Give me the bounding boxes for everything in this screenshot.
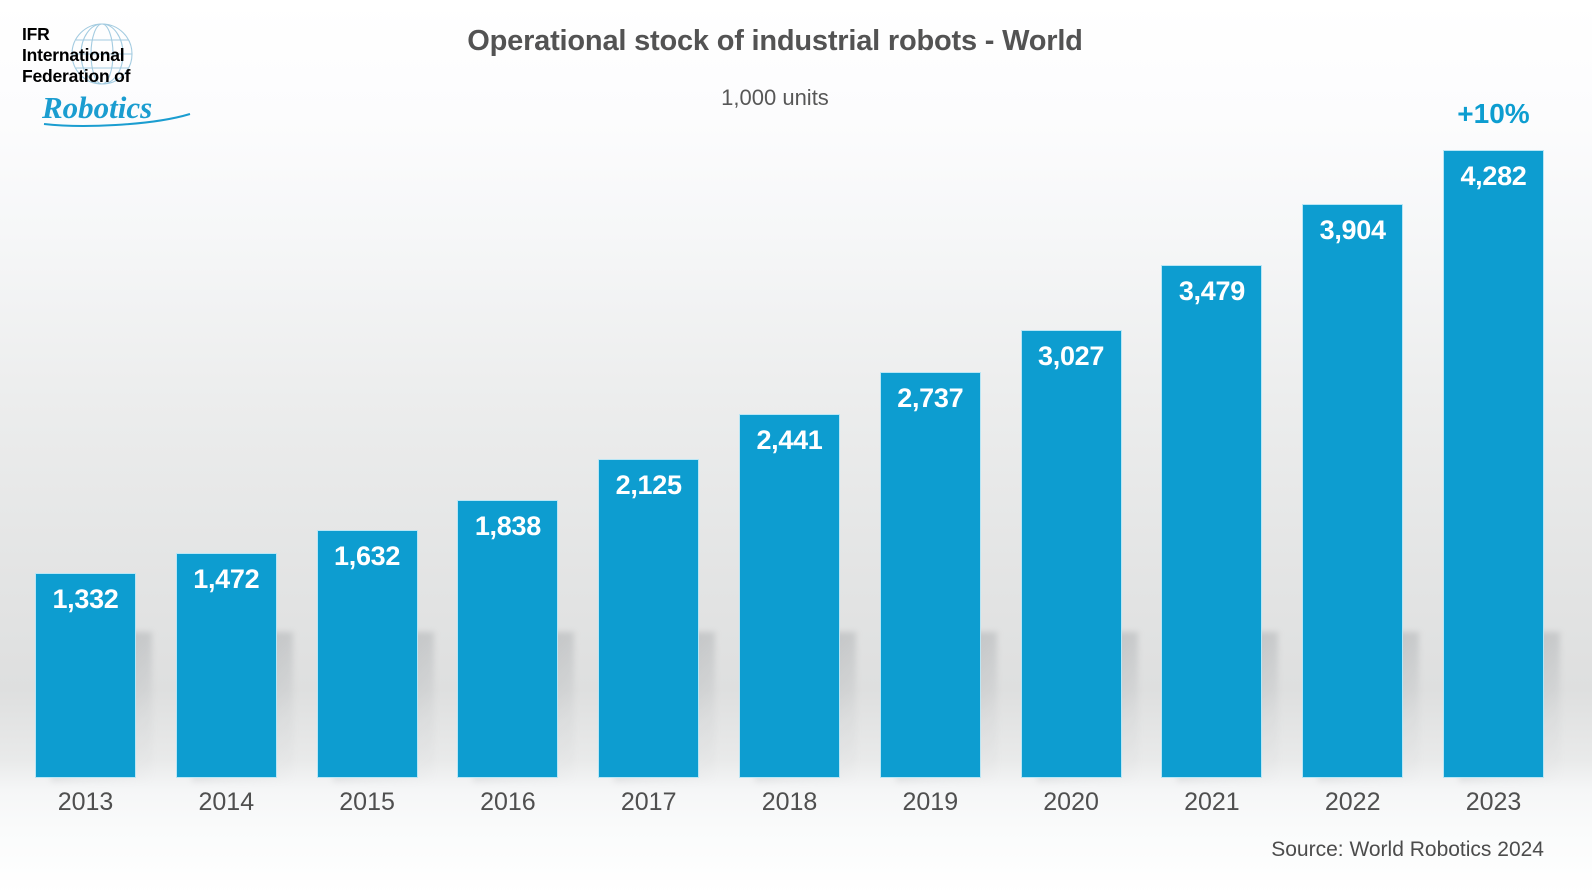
bar-2017[interactable] (598, 459, 699, 778)
bar-chart-plot: 1,33220131,47220141,63220151,83820162,12… (0, 0, 1592, 894)
bar-group-2020[interactable]: 3,0272020 (1021, 330, 1122, 778)
x-axis-tick-2018: 2018 (739, 788, 840, 817)
bar-2021[interactable] (1161, 265, 1262, 778)
bar-2022[interactable] (1302, 204, 1403, 778)
x-axis-tick-2023: 2023 (1443, 788, 1544, 817)
bar-group-2018[interactable]: 2,4412018 (739, 414, 840, 778)
bar-value-label-2021: 3,479 (1161, 276, 1262, 307)
bar-value-label-2022: 3,904 (1302, 215, 1403, 246)
bar-value-label-2013: 1,332 (35, 584, 136, 615)
bar-group-2014[interactable]: 1,4722014 (176, 553, 277, 778)
bar-value-label-2023: 4,282 (1443, 161, 1544, 192)
bar-group-2021[interactable]: 3,4792021 (1161, 265, 1262, 778)
bar-group-2023[interactable]: 4,2822023+10% (1443, 150, 1544, 778)
bar-value-label-2014: 1,472 (176, 564, 277, 595)
bar-value-label-2017: 2,125 (598, 470, 699, 501)
x-axis-tick-2014: 2014 (176, 788, 277, 817)
bar-2019[interactable] (880, 372, 981, 778)
bar-group-2022[interactable]: 3,9042022 (1302, 204, 1403, 778)
bar-group-2015[interactable]: 1,6322015 (317, 530, 418, 778)
x-axis-tick-2022: 2022 (1302, 788, 1403, 817)
bar-group-2019[interactable]: 2,7372019 (880, 372, 981, 778)
growth-annotation-2023: +10% (1443, 98, 1544, 130)
x-axis-tick-2013: 2013 (35, 788, 136, 817)
bar-group-2017[interactable]: 2,1252017 (598, 459, 699, 778)
chart-canvas: IFR International Federation of Robotics… (0, 0, 1592, 894)
bar-value-label-2019: 2,737 (880, 383, 981, 414)
bar-value-label-2020: 3,027 (1021, 341, 1122, 372)
bar-value-label-2018: 2,441 (739, 425, 840, 456)
bar-value-label-2016: 1,838 (457, 511, 558, 542)
bar-2020[interactable] (1021, 330, 1122, 778)
bar-value-label-2015: 1,632 (317, 541, 418, 572)
x-axis-tick-2021: 2021 (1161, 788, 1262, 817)
x-axis-tick-2016: 2016 (457, 788, 558, 817)
x-axis-tick-2020: 2020 (1021, 788, 1122, 817)
x-axis-tick-2017: 2017 (598, 788, 699, 817)
bar-2018[interactable] (739, 414, 840, 778)
bar-group-2016[interactable]: 1,8382016 (457, 500, 558, 778)
bar-2023[interactable] (1443, 150, 1544, 778)
bar-group-2013[interactable]: 1,3322013 (35, 573, 136, 778)
x-axis-tick-2015: 2015 (317, 788, 418, 817)
x-axis-tick-2019: 2019 (880, 788, 981, 817)
source-note: Source: World Robotics 2024 (1271, 838, 1544, 862)
